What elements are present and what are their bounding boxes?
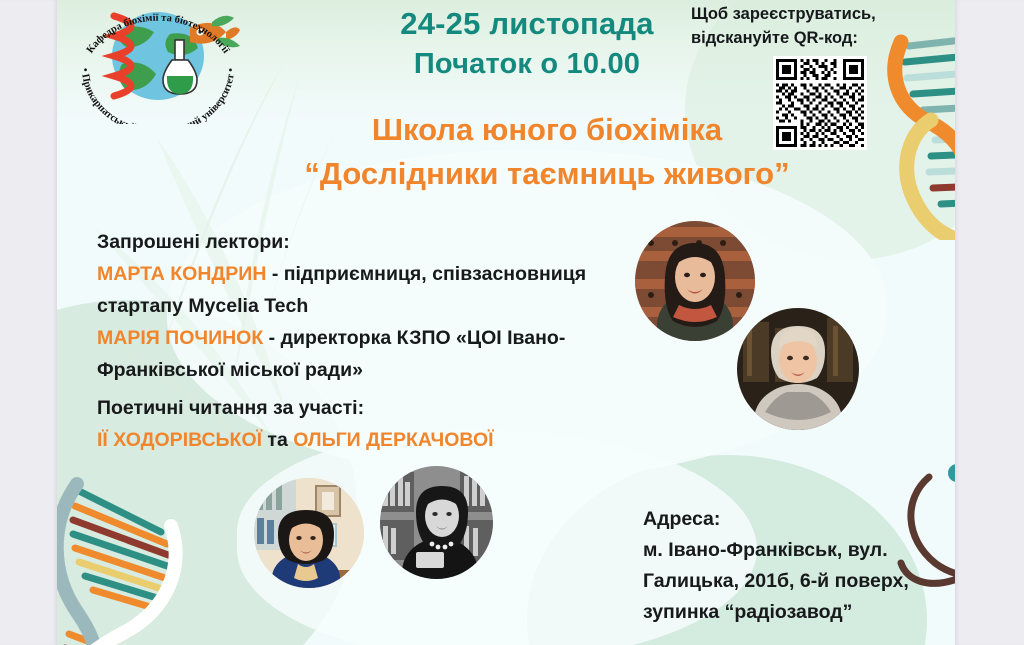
photo-mariia-pochynok (737, 308, 859, 430)
qr-caption-line-1: Щоб зареєструватись, (691, 2, 941, 26)
lecturer-item: МАРІЯ ПОЧИНОК - директорка КЗПО «ЦОІ Іва… (97, 322, 677, 354)
lecturers-block: Запрошені лектори: МАРТА КОНДРИН - підпр… (97, 226, 677, 386)
page-gutter-right (955, 0, 1024, 645)
atom-nucleus-icon (948, 464, 955, 482)
university-emblem-icon: Кафедра біохімії та біотехнології • Прик… (62, 0, 254, 124)
address-line-1: м. Івано-Франківськ, вул. (643, 535, 955, 566)
lecturers-heading: Запрошені лектори: (97, 226, 677, 258)
lecturer-role: - директорка КЗПО «ЦОІ Івано- (263, 327, 565, 349)
page-gutter-left (0, 0, 57, 645)
lecturer-role-continued: Франківської міської ради» (97, 354, 677, 386)
page-title: Школа юного біохіміка (197, 108, 897, 152)
dna-helix-left-icon (57, 470, 245, 645)
poster-canvas: Кафедра біохімії та біотехнології • Прик… (57, 0, 955, 645)
address-line-2: Галицька, 201б, 6-й поверх, (643, 566, 955, 597)
event-date: 24-25 листопада (327, 4, 727, 44)
event-title-block: Школа юного біохіміка “Дослідники таємни… (197, 108, 897, 196)
poet-name-1: ІЇ ХОДОРІВСЬКОЇ (97, 429, 262, 451)
poetry-heading: Поетичні читання за участі: (97, 392, 677, 424)
page-subtitle: “Дослідники таємниць живого” (197, 152, 897, 196)
event-date-block: 24-25 листопада Початок о 10.00 (327, 4, 727, 84)
poet-name-2: ОЛЬГИ ДЕРКАЧОВОЇ (293, 429, 493, 451)
event-start-time: Початок о 10.00 (327, 44, 727, 84)
photo-olha-derkachova (380, 466, 493, 579)
lecturer-item: МАРТА КОНДРИН - підприємниця, співзаснов… (97, 258, 677, 290)
lecturer-role: - підприємниця, співзасновниця (266, 263, 586, 285)
address-block: Адреса: м. Івано-Франківськ, вул. Галиць… (643, 504, 955, 628)
poetry-conjunction: та (262, 429, 293, 451)
address-heading: Адреса: (643, 504, 955, 535)
qr-caption-line-2: відскануйте QR-код: (691, 26, 941, 50)
lecturer-role-continued: стартапу Mycelia Tech (97, 290, 677, 322)
lecturer-name: МАРТА КОНДРИН (97, 263, 266, 285)
poetry-participants: ІЇ ХОДОРІВСЬКОЇ та ОЛЬГИ ДЕРКАЧОВОЇ (97, 424, 677, 456)
address-line-3: зупинка “радіозавод” (643, 597, 955, 628)
photo-iia-khodorivska (254, 478, 364, 588)
poster-stage: Кафедра біохімії та біотехнології • Прик… (0, 0, 1024, 645)
photo-marta-kondryn (635, 221, 755, 341)
poetry-readings-block: Поетичні читання за участі: ІЇ ХОДОРІВСЬ… (97, 392, 677, 456)
lecturer-name: МАРІЯ ПОЧИНОК (97, 327, 263, 349)
